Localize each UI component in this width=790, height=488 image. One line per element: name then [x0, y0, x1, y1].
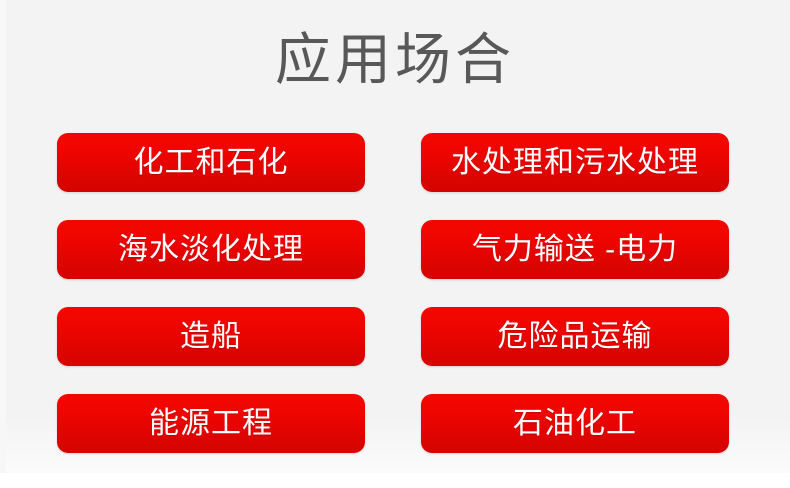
button-label: 造船	[180, 322, 242, 352]
button-row-1: 化工和石化 水处理和污水处理	[57, 133, 729, 192]
button-row-2: 海水淡化处理 气力输送 -电力	[57, 220, 729, 279]
button-row-4: 能源工程 石油化工	[57, 394, 729, 453]
scenario-button-energy-engineering[interactable]: 能源工程	[57, 394, 365, 453]
scenario-button-seawater-desalination[interactable]: 海水淡化处理	[57, 220, 365, 279]
scenario-button-shipbuilding[interactable]: 造船	[57, 307, 365, 366]
button-label: 气力输送 -电力	[472, 235, 678, 265]
scenario-button-hazardous-goods-transport[interactable]: 危险品运输	[421, 307, 729, 366]
scenario-button-grid: 化工和石化 水处理和污水处理 海水淡化处理 气力输送 -电力 造船 危险品运输	[57, 133, 729, 453]
button-label: 化工和石化	[134, 148, 289, 178]
button-label: 水处理和污水处理	[451, 148, 699, 178]
button-label: 能源工程	[149, 409, 273, 439]
button-label: 石油化工	[513, 409, 637, 439]
page-title: 应用场合	[0, 22, 790, 98]
scenario-button-petrochemical[interactable]: 石油化工	[421, 394, 729, 453]
button-label: 海水淡化处理	[118, 235, 304, 265]
scenario-button-pneumatic-conveying-power[interactable]: 气力输送 -电力	[421, 220, 729, 279]
button-row-3: 造船 危险品运输	[57, 307, 729, 366]
application-scenarios-page: 应用场合 化工和石化 水处理和污水处理 海水淡化处理 气力输送 -电力 造船 危…	[0, 0, 790, 488]
scenario-button-chemical-petrochemical[interactable]: 化工和石化	[57, 133, 365, 192]
scenario-button-water-wastewater-treatment[interactable]: 水处理和污水处理	[421, 133, 729, 192]
button-label: 危险品运输	[498, 322, 653, 352]
